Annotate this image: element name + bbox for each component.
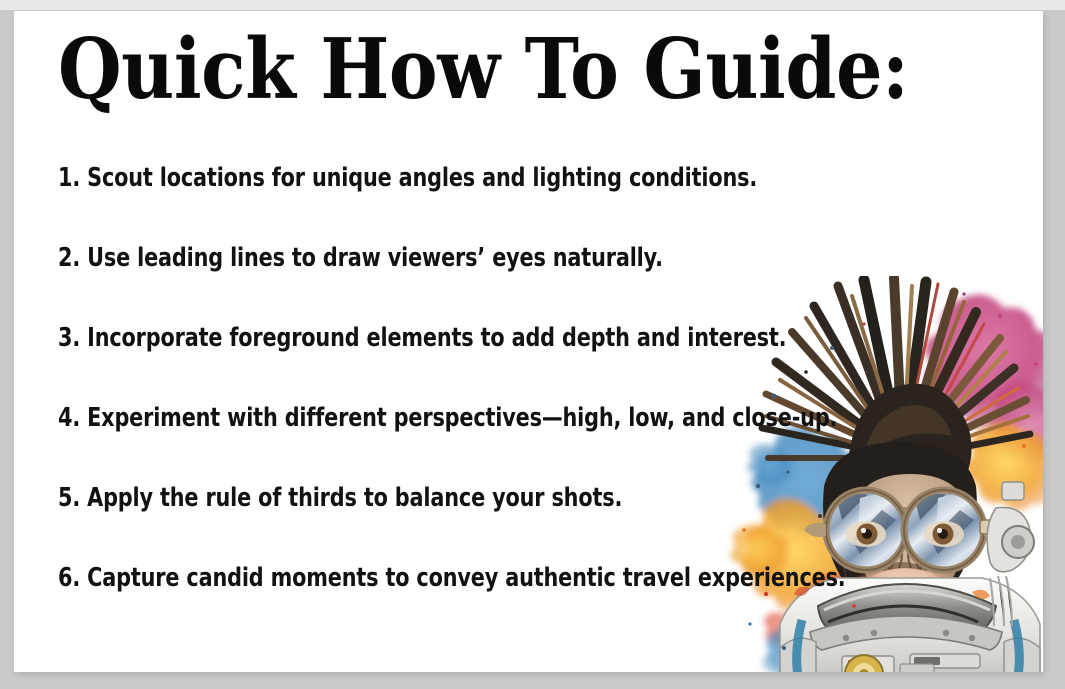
- list-item: 1. Scout locations for unique angles and…: [58, 161, 826, 241]
- list-item: 2. Use leading lines to draw viewers’ ey…: [58, 241, 826, 321]
- slide-canvas: Quick How To Guide: 1. Scout locations f…: [0, 0, 1065, 689]
- list-item: 3. Incorporate foreground elements to ad…: [58, 321, 826, 401]
- page-title: Quick How To Guide:: [58, 28, 909, 111]
- list-item: 4. Experiment with different perspective…: [58, 401, 826, 481]
- slide-card: Quick How To Guide: 1. Scout locations f…: [14, 11, 1043, 672]
- how-to-steps-list: 1. Scout locations for unique angles and…: [58, 161, 1018, 641]
- list-item: 6. Capture candid moments to convey auth…: [58, 561, 826, 641]
- list-item: 5. Apply the rule of thirds to balance y…: [58, 481, 826, 561]
